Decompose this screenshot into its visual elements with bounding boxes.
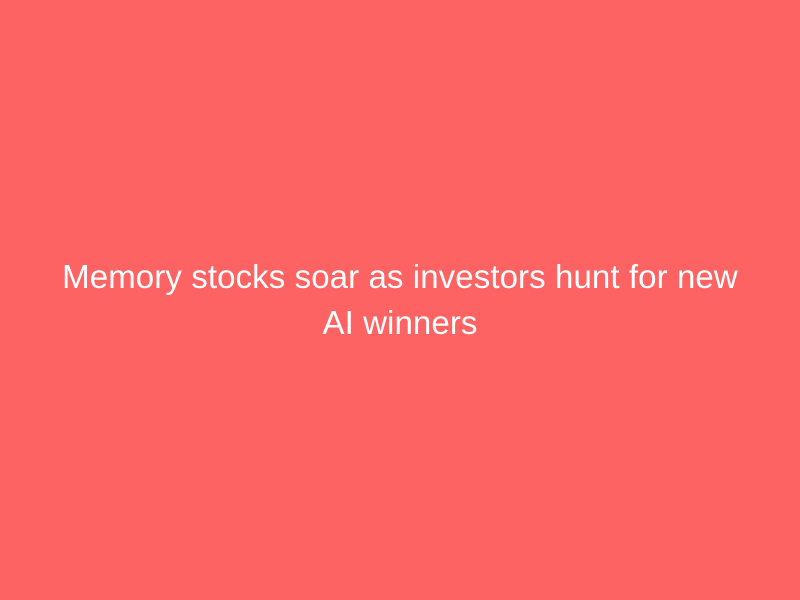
article-headline-card[interactable]: Memory stocks soar as investors hunt for… xyxy=(0,0,800,600)
headline-title: Memory stocks soar as investors hunt for… xyxy=(54,254,746,346)
